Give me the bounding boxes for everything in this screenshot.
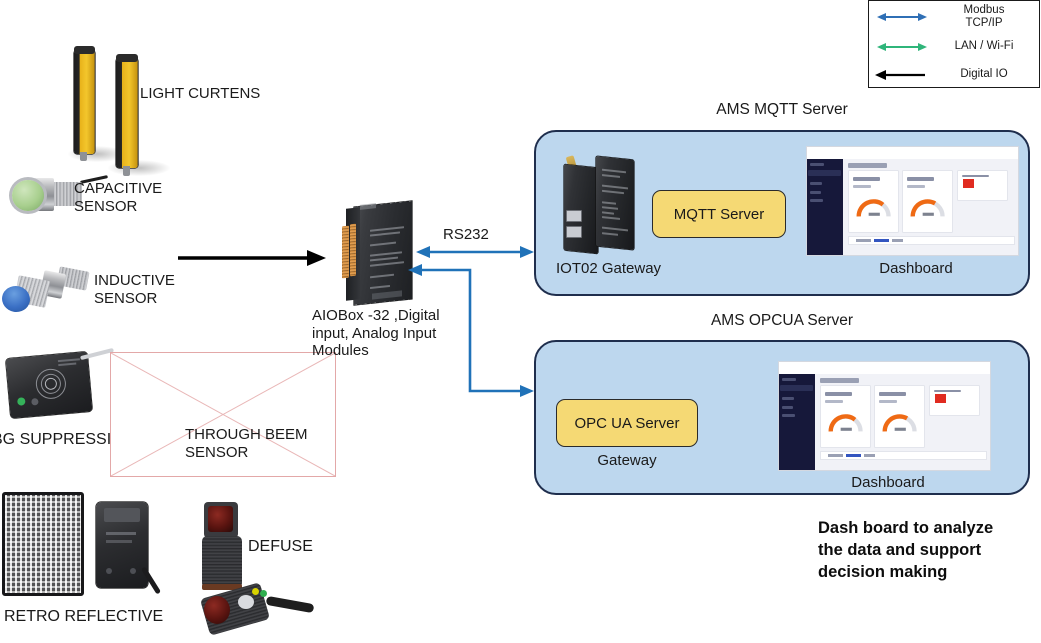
label-rs232: RS232 (443, 226, 523, 244)
panel-opcua: OPC UA Server Gateway METROLOGY KIT (534, 340, 1030, 495)
dashboard-gauge-card (902, 170, 953, 233)
opcua-server-box[interactable]: OPC UA Server (556, 399, 698, 447)
aiobox-controller-image (336, 200, 422, 308)
digital-io-arrow (178, 250, 326, 266)
dashboard-thumbnail-mqtt[interactable]: METROLOGY KIT (807, 147, 1018, 255)
inductive-sensor-image (2, 258, 102, 314)
dashboard-status-card (957, 170, 1008, 201)
iot02-gateway-image (560, 148, 640, 256)
opcua-server-box-label: OPC UA Server (574, 415, 679, 432)
left-arrow-icon (869, 68, 935, 82)
double-arrow-icon (869, 10, 935, 24)
dashboard-status-card (929, 385, 980, 416)
legend-label-digital-io: Digital IO (935, 68, 1039, 81)
status-indicator-red (935, 394, 946, 403)
light-curtain-image (70, 42, 165, 167)
label-retro-reflective: RETRO REFLECTIVE (4, 608, 204, 627)
legend-box: Modbus TCP/IP LAN / Wi-Fi Digital IO (868, 0, 1040, 88)
dashboard-sidebar (807, 159, 843, 255)
bg-suppression-cable (80, 348, 114, 360)
panel-title-mqtt: AMS MQTT Server (534, 101, 1030, 119)
label-defuse: DEFUSE (248, 538, 368, 557)
dashboard-footer (848, 236, 1015, 246)
label-capacitive-sensor: CAPACITIVE SENSOR (74, 180, 224, 215)
dashboard-body (815, 374, 990, 470)
dashboard-gauge-card (874, 385, 925, 448)
mqtt-server-box-label: MQTT Server (674, 206, 765, 223)
label-opcua-gateway: Gateway (556, 452, 698, 470)
legend-label-lan: LAN / Wi-Fi (935, 40, 1039, 53)
status-indicator-red (963, 179, 974, 188)
label-dashboard-opcua: Dashboard (808, 474, 968, 492)
dashboard-thumbnail-opcua[interactable]: METROLOGY KIT (779, 362, 990, 470)
retro-reflective-sensor-image (96, 502, 148, 588)
bg-suppression-sensor-image (6, 352, 93, 419)
legend-item-lan: LAN / Wi-Fi (869, 33, 1039, 61)
double-arrow-icon (869, 40, 935, 54)
label-inductive-sensor: INDUCTIVE SENSOR (94, 272, 244, 307)
dashboard-sidebar (779, 374, 815, 470)
legend-item-modbus: Modbus TCP/IP (869, 3, 1039, 31)
modbus-arrow-mqtt (416, 246, 534, 258)
legend-item-digital-io: Digital IO (869, 61, 1039, 89)
label-through-beam-sensor: THROUGH BEEM SENSOR (185, 426, 345, 461)
diagram-canvas: Modbus TCP/IP LAN / Wi-Fi Digital IO (0, 0, 1041, 643)
caption-text: Dash board to analyze the data and suppo… (818, 518, 1033, 583)
legend-label-modbus: Modbus TCP/IP (935, 4, 1039, 30)
retro-reflector-image (2, 492, 84, 596)
dashboard-gauge-card (820, 385, 871, 448)
dashboard-footer (820, 451, 987, 461)
panel-mqtt: IOT02 Gateway MQTT Server METROLOGY KIT (534, 130, 1030, 296)
dashboard-gauge-card (848, 170, 899, 233)
label-iot02-gateway: IOT02 Gateway (556, 260, 696, 278)
label-dashboard-mqtt: Dashboard (836, 260, 996, 278)
label-light-curtains: LIGHT CURTENS (140, 85, 290, 103)
panel-title-opcua: AMS OPCUA Server (534, 312, 1030, 330)
label-aiobox-controller: AIOBox -32 ,Digital input, Analog Input … (312, 307, 458, 360)
mqtt-server-box[interactable]: MQTT Server (652, 190, 786, 238)
dashboard-body (843, 159, 1018, 255)
defuse-sensor-image (190, 500, 310, 630)
